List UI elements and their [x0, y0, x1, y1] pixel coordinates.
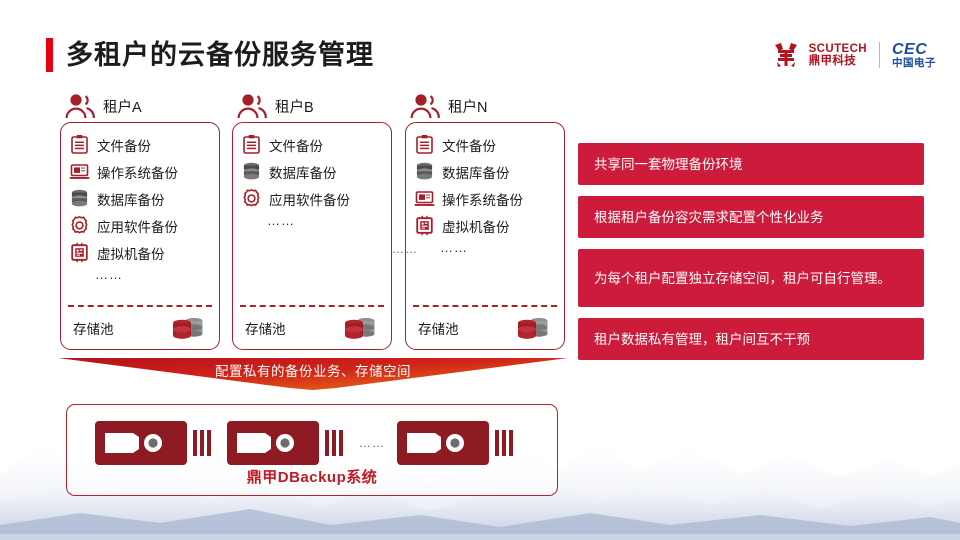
- gear-app-icon: [241, 188, 262, 209]
- storage-pool-icon: [343, 314, 377, 342]
- feature-banner[interactable]: 根据租户备份容灾需求配置个性化业务: [578, 196, 924, 238]
- service-label: 虚拟机备份: [97, 243, 165, 263]
- feature-banner-text: 共享同一套物理备份环境: [594, 154, 743, 175]
- storage-pool-label: 存储池: [245, 318, 286, 338]
- clipboard-file-icon: [414, 134, 435, 155]
- tenant-body-b: 文件备份 数据库备份: [232, 122, 392, 350]
- service-item[interactable]: 文件备份: [414, 132, 556, 157]
- tenant-users-icon: [64, 93, 97, 119]
- service-label: 应用软件备份: [269, 189, 350, 209]
- dbackup-system-box[interactable]: …… 鼎甲DBackup系统: [66, 404, 558, 496]
- service-label: 数据库备份: [269, 162, 337, 182]
- tenant-body-a: 文件备份 操作系统备份: [60, 122, 220, 350]
- logo-brand-cn: 鼎甲科技: [809, 55, 867, 67]
- tenant-card-a[interactable]: 租户A 文件备份: [60, 90, 220, 360]
- laptop-os-icon: [69, 161, 90, 182]
- storage-pool-row-n[interactable]: 存储池: [414, 307, 556, 349]
- service-item[interactable]: 文件备份: [69, 132, 211, 157]
- config-flow-arrow: 配置私有的备份业务、存储空间: [58, 358, 568, 390]
- logo-partner-en: CEC: [892, 41, 936, 58]
- tenant-card-n[interactable]: 租户N 文件备份: [405, 90, 565, 360]
- service-label: 文件备份: [97, 135, 151, 155]
- chip-vm-icon: [69, 242, 90, 263]
- server-rack-icon: [397, 421, 515, 465]
- feature-banner-text: 为每个租户配置独立存储空间，租户可自行管理。: [594, 268, 891, 289]
- server-rack-icon: [95, 421, 213, 465]
- service-list-a: 文件备份 操作系统备份: [69, 132, 211, 305]
- service-label: 文件备份: [442, 135, 496, 155]
- tenant-card-b[interactable]: 租户B 文件备份: [232, 90, 392, 360]
- page-title: 多租户的云备份服务管理: [66, 36, 374, 74]
- service-label: 文件备份: [269, 135, 323, 155]
- tenant-body-n: 文件备份 数据库备份: [405, 122, 565, 350]
- tenant-cards-region: 租户A 文件备份: [60, 90, 565, 360]
- tenant-header-b: 租户B: [232, 90, 392, 122]
- service-list-b: 文件备份 数据库备份: [241, 132, 383, 305]
- tenant-name-n: 租户N: [448, 96, 487, 117]
- database-icon: [69, 188, 90, 209]
- service-item[interactable]: 虚拟机备份: [414, 213, 556, 238]
- service-label: 数据库备份: [97, 189, 165, 209]
- service-list-n: 文件备份 数据库备份: [414, 132, 556, 305]
- clipboard-file-icon: [241, 134, 262, 155]
- service-item[interactable]: 操作系统备份: [69, 159, 211, 184]
- logo-divider: [879, 42, 880, 68]
- service-label: 数据库备份: [442, 162, 510, 182]
- clipboard-file-icon: [69, 134, 90, 155]
- storage-pool-label: 存储池: [73, 318, 114, 338]
- database-icon: [241, 161, 262, 182]
- page-header: 多租户的云备份服务管理 SCUTECH 鼎甲科技 CEC 中国电子: [0, 0, 960, 92]
- system-name-label: 鼎甲DBackup系统: [67, 466, 557, 487]
- server-rack-icon: [227, 421, 345, 465]
- service-item[interactable]: 虚拟机备份: [69, 240, 211, 265]
- tenant-name-a: 租户A: [103, 96, 142, 117]
- service-item[interactable]: 应用软件备份: [241, 186, 383, 211]
- title-accent-bar: [46, 38, 53, 72]
- storage-pool-icon: [171, 314, 205, 342]
- service-label: 操作系统备份: [97, 162, 178, 182]
- servers-dots: ……: [359, 436, 383, 450]
- database-icon: [414, 161, 435, 182]
- tenant-name-b: 租户B: [275, 96, 314, 117]
- more-services-dots: ……: [241, 213, 383, 233]
- tenant-users-icon: [236, 93, 269, 119]
- chip-vm-icon: [414, 215, 435, 236]
- service-item[interactable]: 操作系统备份: [414, 186, 556, 211]
- feature-banner[interactable]: 共享同一套物理备份环境: [578, 143, 924, 185]
- service-item[interactable]: 应用软件备份: [69, 213, 211, 238]
- feature-banner-text: 根据租户备份容灾需求配置个性化业务: [594, 207, 824, 228]
- feature-banner[interactable]: 租户数据私有管理，租户间互不干预: [578, 318, 924, 360]
- laptop-os-icon: [414, 188, 435, 209]
- gear-app-icon: [69, 215, 90, 236]
- service-item[interactable]: 数据库备份: [241, 159, 383, 184]
- service-label: 应用软件备份: [97, 216, 178, 236]
- storage-pool-row-b[interactable]: 存储池: [241, 307, 383, 349]
- server-group: ……: [95, 421, 515, 465]
- tenant-header-n: 租户N: [405, 90, 565, 122]
- storage-pool-label: 存储池: [418, 318, 459, 338]
- brand-logo: SCUTECH 鼎甲科技 CEC 中国电子: [772, 38, 936, 72]
- service-item[interactable]: 文件备份: [241, 132, 383, 157]
- service-item[interactable]: 数据库备份: [69, 186, 211, 211]
- between-tenants-dots: ……: [392, 242, 418, 256]
- tenant-users-icon: [409, 93, 442, 119]
- service-label: 虚拟机备份: [442, 216, 510, 236]
- more-services-dots: ……: [69, 267, 211, 287]
- arrow-label: 配置私有的备份业务、存储空间: [58, 358, 568, 382]
- feature-banner-text: 租户数据私有管理，租户间互不干预: [594, 329, 810, 350]
- bottom-strip: [0, 534, 960, 540]
- service-item[interactable]: 数据库备份: [414, 159, 556, 184]
- tenant-header-a: 租户A: [60, 90, 220, 122]
- logo-partner-cn: 中国电子: [892, 58, 936, 69]
- feature-banner-list: 共享同一套物理备份环境 根据租户备份容灾需求配置个性化业务 为每个租户配置独立存…: [578, 143, 924, 360]
- logo-brand-en: SCUTECH: [809, 43, 867, 55]
- feature-banner[interactable]: 为每个租户配置独立存储空间，租户可自行管理。: [578, 249, 924, 307]
- scutech-logo-mark-icon: [772, 42, 800, 68]
- more-services-dots: ……: [414, 240, 556, 260]
- service-label: 操作系统备份: [442, 189, 523, 209]
- storage-pool-icon: [516, 314, 550, 342]
- storage-pool-row-a[interactable]: 存储池: [69, 307, 211, 349]
